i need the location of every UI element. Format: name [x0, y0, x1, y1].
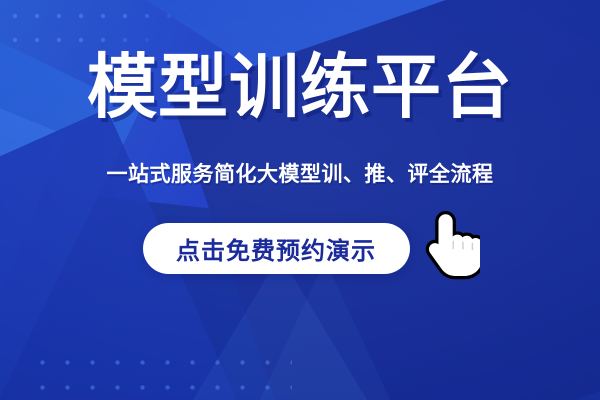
pointing-hand-cursor-icon [422, 210, 480, 280]
banner-content: 模型训练平台 一站式服务简化大模型训、推、评全流程 点击免费预约演示 [0, 0, 600, 400]
free-demo-booking-button-label: 点击免费预约演示 [176, 231, 376, 266]
banner-title: 模型训练平台 [87, 50, 513, 124]
free-demo-booking-button[interactable]: 点击免费预约演示 [143, 223, 410, 274]
banner-subtitle: 一站式服务简化大模型训、推、评全流程 [107, 158, 494, 188]
promo-banner: 模型训练平台 一站式服务简化大模型训、推、评全流程 点击免费预约演示 [0, 0, 600, 400]
cta-row: 点击免费预约演示 [0, 216, 600, 280]
